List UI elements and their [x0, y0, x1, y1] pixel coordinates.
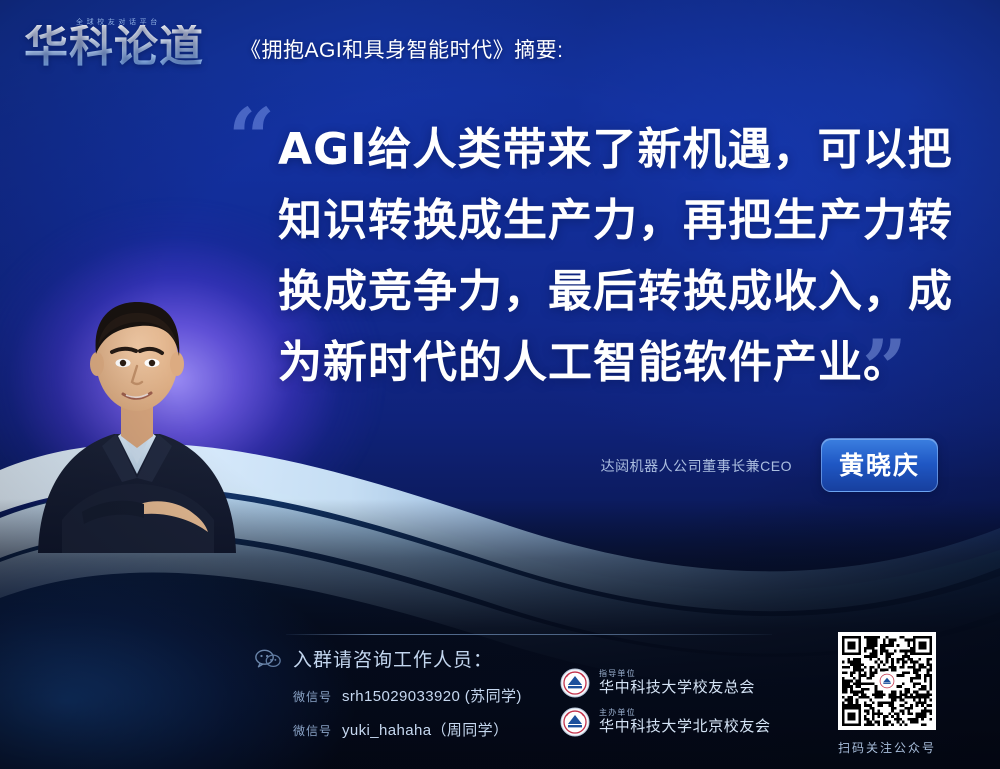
- quote-line: AGI给人类带来了新机遇，可以把: [278, 114, 938, 185]
- contact-value[interactable]: srh15029033920 (苏同学): [342, 685, 522, 706]
- quote-line: 换成竞争力，最后转换成收入，成: [278, 256, 938, 327]
- contact-value[interactable]: yuki_hahaha（周同学）: [342, 719, 508, 740]
- organizer-list: 指导单位 华中科技大学校友总会 主办单位 华中科技大学北京校友会: [560, 668, 771, 746]
- contact-label: 微信号: [293, 722, 332, 739]
- quote-line: 为新时代的人工智能软件产业。: [278, 327, 938, 398]
- organizer-text: 主办单位 华中科技大学北京校友会: [599, 709, 771, 735]
- quote-line: 知识转换成生产力，再把生产力转: [278, 185, 938, 256]
- university-seal-icon: [560, 707, 590, 737]
- quote-open-icon: “: [228, 98, 275, 180]
- organizer-item: 主办单位 华中科技大学北京校友会: [560, 707, 771, 737]
- header: 全球校友对话平台 华科论道 《拥抱AGI和具身智能时代》摘要:: [0, 0, 1000, 92]
- contact-title: 入群请咨询工作人员：: [293, 645, 493, 672]
- quote-text: AGI给人类带来了新机遇，可以把 知识转换成生产力，再把生产力转 换成竞争力，最…: [278, 114, 938, 398]
- organizer-kind: 指导单位: [599, 670, 755, 678]
- speaker-name-badge: 黄晓庆: [821, 438, 938, 492]
- organizer-kind: 主办单位: [599, 709, 771, 717]
- logo-wordmark: 华科论道: [24, 25, 204, 69]
- brand-logo: 全球校友对话平台 华科论道: [24, 15, 216, 77]
- qr-block: 扫码关注公众号: [838, 632, 936, 756]
- organizer-name: 华中科技大学校友总会: [599, 680, 755, 696]
- poster-root: 全球校友对话平台 华科论道 《拥抱AGI和具身智能时代》摘要: “ AGI给人类…: [0, 0, 1000, 769]
- organizer-text: 指导单位 华中科技大学校友总会: [599, 670, 755, 696]
- wechat-icon: [255, 649, 281, 669]
- qr-caption: 扫码关注公众号: [838, 739, 936, 756]
- qr-code[interactable]: [838, 632, 936, 730]
- organizer-name: 华中科技大学北京校友会: [599, 719, 771, 735]
- page-title: 《拥抱AGI和具身智能时代》摘要:: [240, 34, 564, 64]
- qr-logo: [877, 671, 897, 691]
- speaker-portrait: [22, 268, 252, 553]
- university-seal-icon: [560, 668, 590, 698]
- speaker-role: 达闼机器人公司董事长兼CEO: [601, 456, 792, 476]
- footer-divider: [286, 634, 772, 635]
- speaker-attribution: 达闼机器人公司董事长兼CEO 黄晓庆: [601, 444, 918, 488]
- quote-close-icon: ”: [862, 330, 907, 408]
- organizer-item: 指导单位 华中科技大学校友总会: [560, 668, 771, 698]
- contact-label: 微信号: [293, 688, 332, 705]
